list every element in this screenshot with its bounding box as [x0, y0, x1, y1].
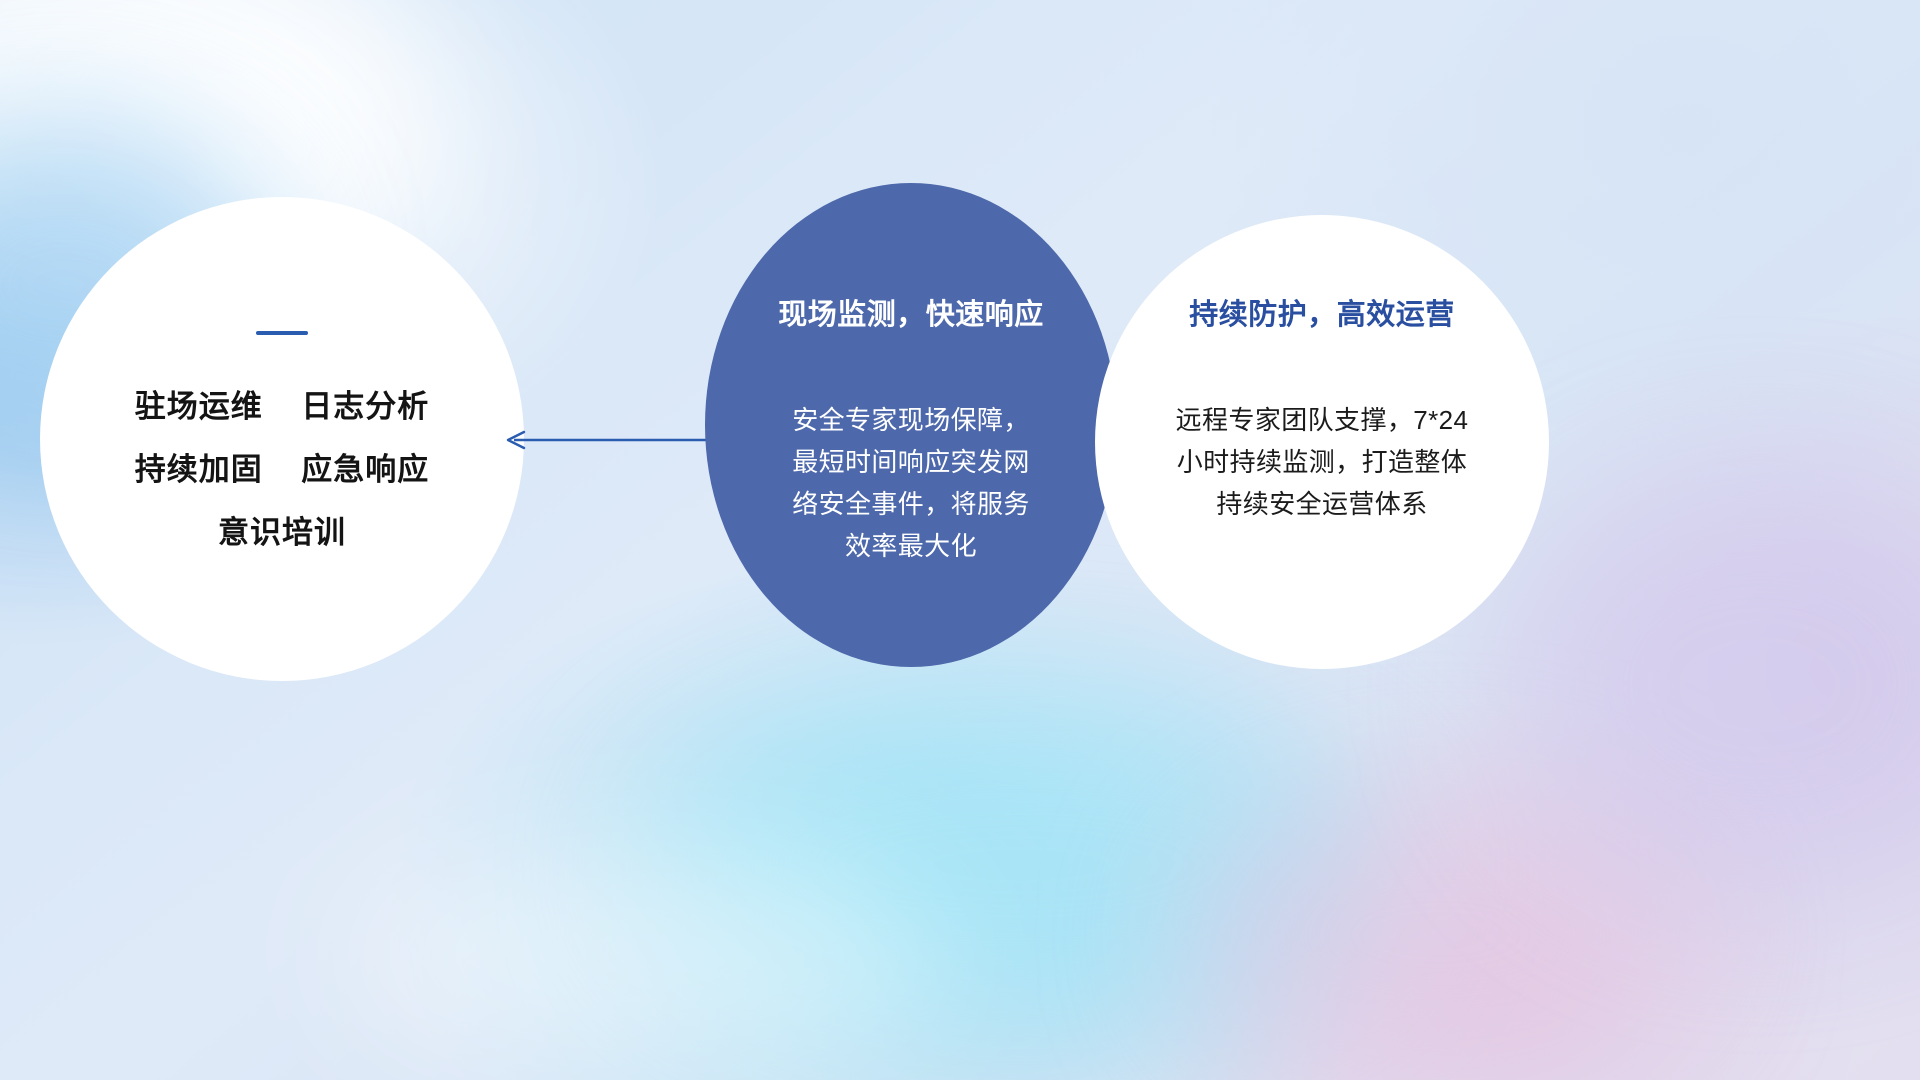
left-keyword-row-1: 驻场运维 日志分析 [135, 391, 429, 422]
connector-arrow-left [498, 424, 714, 456]
middle-body-line-3: 络安全事件，将服务 [792, 483, 1030, 525]
middle-circle-title: 现场监测，快速响应 [778, 291, 1044, 333]
left-keyword-row-2: 持续加固 应急响应 [135, 454, 429, 485]
middle-body-line-1: 安全专家现场保障， [792, 399, 1030, 441]
right-circle[interactable]: 持续防护，高效运营 远程专家团队支撑，7*24 小时持续监测，打造整体 持续安全… [1095, 215, 1549, 669]
right-circle-content: 持续防护，高效运营 远程专家团队支撑，7*24 小时持续监测，打造整体 持续安全… [1095, 215, 1549, 669]
left-circle-content: 驻场运维 日志分析 持续加固 应急响应 意识培训 [40, 197, 524, 681]
background-blob-pink [1180, 790, 1700, 1080]
right-circle-body: 远程专家团队支撑，7*24 小时持续监测，打造整体 持续安全运营体系 [1176, 399, 1469, 525]
right-body-line-3: 持续安全运营体系 [1176, 483, 1469, 525]
middle-circle-body: 安全专家现场保障， 最短时间响应突发网 络安全事件，将服务 效率最大化 [792, 399, 1030, 567]
background-blob-violet [1500, 470, 1920, 900]
right-body-line-2: 小时持续监测，打造整体 [1176, 441, 1469, 483]
background-blob-bottom-white [340, 840, 960, 1070]
left-circle[interactable]: 驻场运维 日志分析 持续加固 应急响应 意识培训 [40, 197, 524, 681]
left-keyword-row-3: 意识培训 [218, 517, 346, 548]
slide-canvas: 驻场运维 日志分析 持续加固 应急响应 意识培训 现场监测，快速响应 安全专家现… [0, 0, 1920, 1080]
middle-body-line-4: 效率最大化 [792, 525, 1030, 567]
middle-circle-content: 现场监测，快速响应 安全专家现场保障， 最短时间响应突发网 络安全事件，将服务 … [705, 183, 1117, 667]
middle-circle[interactable]: 现场监测，快速响应 安全专家现场保障， 最短时间响应突发网 络安全事件，将服务 … [705, 183, 1117, 667]
middle-body-line-2: 最短时间响应突发网 [792, 441, 1030, 483]
divider-line [256, 331, 308, 335]
background-blob-cyan [640, 700, 1400, 1030]
right-body-line-1: 远程专家团队支撑，7*24 [1176, 399, 1469, 441]
right-circle-title: 持续防护，高效运营 [1189, 291, 1455, 333]
